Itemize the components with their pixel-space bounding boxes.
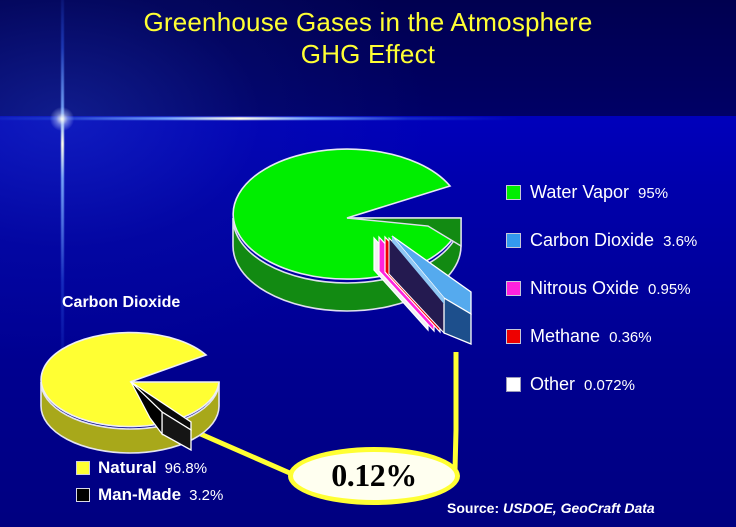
legend-label-other: Other	[530, 374, 575, 395]
main-legend: Water Vapor 95% Carbon Dioxide 3.6% Nitr…	[506, 182, 734, 422]
legend-percent-methane: 0.36%	[609, 329, 652, 346]
legend-swatch-carbon-dioxide	[506, 233, 521, 248]
legend-label-carbon-dioxide: Carbon Dioxide	[530, 230, 654, 251]
co2-legend: Natural 96.8% Man-Made 3.2%	[76, 458, 306, 512]
co2-slice-natural[interactable]	[41, 333, 219, 427]
co2-legend-row-natural[interactable]: Natural 96.8%	[76, 458, 306, 485]
legend-row-other[interactable]: Other 0.072%	[506, 374, 734, 422]
co2-legend-label-manmade: Man-Made	[98, 485, 181, 505]
source-citation: USDOE, GeoCraft Data	[503, 500, 655, 516]
co2-legend-row-manmade[interactable]: Man-Made 3.2%	[76, 485, 306, 512]
exploded-slices-graphic	[372, 236, 492, 371]
legend-percent-carbon-dioxide: 3.6%	[663, 233, 697, 250]
exploded-minor-slices[interactable]	[372, 236, 487, 366]
slide-canvas: Greenhouse Gases in the Atmosphere GHG E…	[0, 0, 736, 527]
legend-percent-nitrous-oxide: 0.95%	[648, 281, 691, 298]
co2-legend-label-natural: Natural	[98, 458, 157, 478]
legend-label-methane: Methane	[530, 326, 600, 347]
carbon-dioxide-pie[interactable]	[38, 330, 238, 460]
legend-percent-water-vapor: 95%	[638, 185, 668, 202]
source-note: Source: USDOE, GeoCraft Data	[447, 500, 655, 516]
co2-legend-swatch-natural	[76, 461, 90, 475]
callout-bubble[interactable]: 0.12%	[288, 447, 460, 505]
co2-pie-graphic	[38, 330, 238, 460]
legend-swatch-water-vapor	[506, 185, 521, 200]
source-prefix: Source:	[447, 500, 503, 516]
legend-swatch-other	[506, 377, 521, 392]
co2-legend-percent-natural: 96.8%	[165, 460, 208, 477]
co2-chart-title: Carbon Dioxide	[62, 294, 180, 312]
legend-row-carbon-dioxide[interactable]: Carbon Dioxide 3.6%	[506, 230, 734, 278]
legend-swatch-methane	[506, 329, 521, 344]
legend-row-methane[interactable]: Methane 0.36%	[506, 326, 734, 374]
callout-value: 0.12%	[331, 457, 417, 494]
legend-row-water-vapor[interactable]: Water Vapor 95%	[506, 182, 734, 230]
legend-row-nitrous-oxide[interactable]: Nitrous Oxide 0.95%	[506, 278, 734, 326]
co2-legend-swatch-manmade	[76, 488, 90, 502]
legend-label-water-vapor: Water Vapor	[530, 182, 629, 203]
legend-percent-other: 0.072%	[584, 377, 635, 394]
legend-swatch-nitrous-oxide	[506, 281, 521, 296]
co2-legend-percent-manmade: 3.2%	[189, 487, 223, 504]
legend-label-nitrous-oxide: Nitrous Oxide	[530, 278, 639, 299]
